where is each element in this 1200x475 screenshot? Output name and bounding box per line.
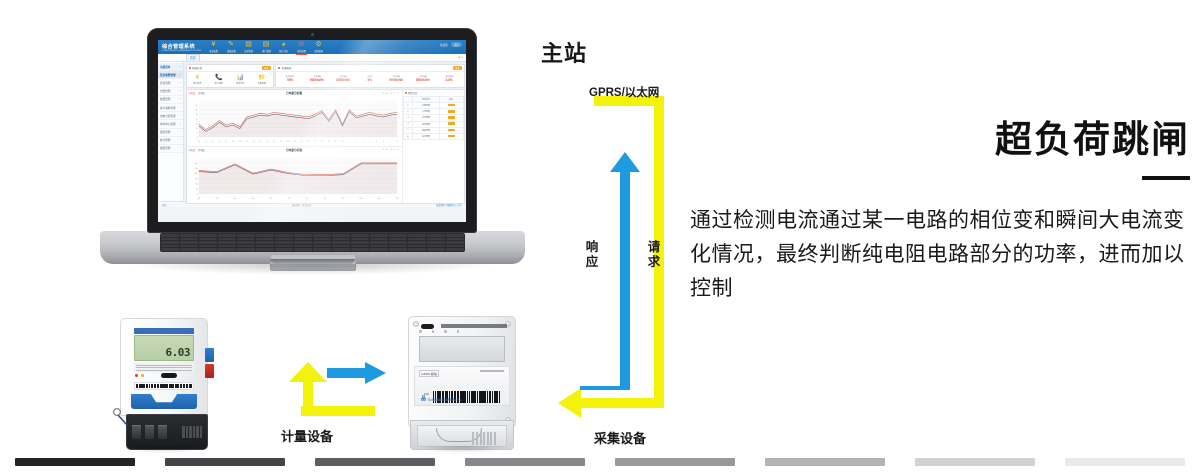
svg-text:29: 29 <box>327 142 329 144</box>
sidebar-item-2[interactable]: 抄表管理« <box>158 79 183 87</box>
keyboard-key <box>180 238 198 241</box>
app-header-right: 欢迎您 退出 <box>440 42 462 47</box>
keyboard-key <box>351 234 369 237</box>
keyboard-key <box>180 241 198 244</box>
meter-terminal-block <box>126 414 208 450</box>
keyboard-key <box>332 245 350 248</box>
keyboard-key <box>427 234 445 237</box>
quick-action-2[interactable]: 📊用电分析 <box>231 75 249 85</box>
keyboard-key <box>370 248 388 251</box>
yuan-icon: ¥ <box>188 75 206 81</box>
status-badge[interactable] <box>448 129 455 132</box>
stat-label: 抄表成功率 <box>278 75 302 78</box>
collector-brand-sub: WILLFAR INFORMATION TECHNOLOGY CO.,LTD <box>428 401 462 402</box>
data-collector-device: GPRS 模块 K19 品 长沙威胜能源产业技术有限公司 WILLFAR INF… <box>408 316 516 450</box>
stats-card-more-button[interactable]: 更多 <box>453 66 461 71</box>
svg-text:16: 16 <box>238 142 240 144</box>
table-cell <box>439 133 463 139</box>
page-title: 超负荷跳闸 <box>690 118 1190 162</box>
keyboard-key <box>218 241 236 244</box>
keyboard-key <box>180 248 198 251</box>
chevron-icon: « <box>180 138 181 142</box>
chart-monthly-title: 月电量分析图 <box>187 148 402 152</box>
svg-text:26: 26 <box>307 142 309 144</box>
quick-actions-card: 快捷方式 更多 ¥营业收费📞客户报修📊用电分析📁抄表数据 <box>186 64 274 88</box>
keyboard-key <box>427 238 445 241</box>
sidebar-item-8[interactable]: 报表管理« <box>158 129 183 137</box>
stat-label: 线损率 <box>358 75 382 78</box>
nav-item-1[interactable]: ✎数据采集 <box>226 41 237 54</box>
sidebar-item-10[interactable]: 线损管理« <box>158 145 183 153</box>
nav-item-label: 日常管理 <box>243 49 253 53</box>
keyboard-key <box>313 234 331 237</box>
svg-text:6月: 6月 <box>287 196 290 200</box>
keyboard-key <box>408 245 426 248</box>
chevron-icon: « <box>180 73 181 77</box>
keyboard-key <box>370 241 388 244</box>
sidebar-item-label: 线损管理 <box>160 146 170 150</box>
keyboard-key <box>313 238 331 241</box>
stat-item-5: 月用电量8500kWh <box>410 75 437 83</box>
stat-value: 8560kWh <box>330 78 357 82</box>
stat-item-6: 当月电费率4.8% <box>436 75 463 83</box>
status-badge[interactable] <box>448 122 455 125</box>
svg-text:3: 3 <box>362 142 363 144</box>
right-text-panel: 超负荷跳闸 通过检测电流通过某一电路的相位变和瞬间大电流变化情况，最终判断纯电阻… <box>690 118 1190 306</box>
keyboard-key <box>332 234 350 237</box>
svg-text:1月: 1月 <box>197 196 200 200</box>
top-cards: 快捷方式 更多 ¥营业收费📞客户报修📊用电分析📁抄表数据 关键指标 更多 <box>186 64 465 88</box>
svg-text:15: 15 <box>195 124 197 126</box>
keyboard-row <box>161 234 464 237</box>
quick-action-label: 用电分析 <box>231 82 249 85</box>
chart-monthly: 月电量 月电流 ⟲ ↻ ⇲ ⊙ ⤢ 月电量分析图 050100150200250… <box>187 147 402 203</box>
bottom-bar <box>465 458 585 466</box>
bottom-bar-segment-6 <box>900 457 1050 466</box>
keyboard-key <box>427 248 445 251</box>
svg-text:0: 0 <box>196 137 197 139</box>
collector-label-line <box>480 370 504 372</box>
keyboard-key <box>389 234 407 237</box>
svg-text:3月: 3月 <box>233 196 236 200</box>
keyboard-key <box>161 241 179 244</box>
stat-item-4: 月用电量9000kWh <box>383 75 410 83</box>
statusbar-right[interactable]: 联系我们 | 帮助中心 | 关于 <box>437 203 462 207</box>
collector-label-plate: GPRS 模块 K19 品 长沙威胜能源产业技术有限公司 WILLFAR INF… <box>414 366 510 406</box>
svg-text:100: 100 <box>194 183 197 185</box>
svg-text:20: 20 <box>266 142 268 144</box>
svg-text:5: 5 <box>196 133 197 135</box>
bottom-gradient-bars <box>0 457 1200 466</box>
keyboard-key <box>446 248 464 251</box>
chevron-icon: « <box>180 114 181 118</box>
keyboard-key <box>313 241 331 244</box>
infographic-canvas: 综合管理系统 COMPREHENSIVE MANAGEMENT SYSTEM ¥… <box>0 0 1200 475</box>
sidebar-item-label: 用电分析管理 <box>160 114 176 118</box>
svg-text:27: 27 <box>314 142 316 144</box>
bottom-bar <box>765 458 885 466</box>
keyboard-row <box>161 241 464 244</box>
keyboard-key <box>389 238 407 241</box>
stats-list: 抄表成功率98%日用电量9060kWh月用电量8560kWh线损率5%月用电量9… <box>276 72 464 84</box>
status-badge[interactable] <box>448 110 455 113</box>
meter-lcd: 6.03 <box>134 335 194 361</box>
breadcrumb: 首页 ▦ ✕ <box>158 54 466 62</box>
collector-module-label: GPRS 模块 <box>419 370 439 377</box>
collector-status-leds <box>419 330 459 333</box>
keyboard-key <box>427 241 445 244</box>
gear-icon: ⚙ <box>313 41 324 49</box>
svg-text:50: 50 <box>195 189 197 191</box>
quick-action-1[interactable]: 📞客户报修 <box>210 75 228 85</box>
nav-item-label: 统计分析 <box>278 49 288 53</box>
sidebar-item-1[interactable]: 营业收费管理« <box>158 71 183 79</box>
keyboard-key <box>408 238 426 241</box>
svg-text:7: 7 <box>389 142 390 144</box>
sidebar-item-label: 收费管理 <box>160 97 170 101</box>
svg-text:28: 28 <box>321 142 323 144</box>
meter-shadow <box>120 446 207 454</box>
laptop-shadow <box>125 264 500 275</box>
bottom-bar-segment-0 <box>0 457 150 466</box>
app-body: 功能菜单«营业收费管理«抄表管理«台账管理«收费管理«客户资料管理«用电分析管理… <box>158 62 466 201</box>
keyboard-key <box>275 238 293 241</box>
svg-text:8月: 8月 <box>323 196 326 200</box>
meter-seal-hook-icon <box>112 408 132 426</box>
keyboard-key <box>199 234 217 237</box>
keyboard-key <box>294 248 312 251</box>
nav-item-5[interactable]: ✉短信管理 <box>296 41 307 54</box>
keyboard-key <box>275 234 293 237</box>
quick-action-3[interactable]: 📁抄表数据 <box>253 75 271 85</box>
sidebar-item-0[interactable]: 功能菜单« <box>158 63 183 71</box>
chart-daily: 日电量 日电流 ⟲ ↻ ⇲ ⊙ ⤢ 日电量分析图 051015202530351… <box>187 90 402 147</box>
keyboard-key <box>180 234 198 237</box>
app-content: 快捷方式 更多 ¥营业收费📞客户报修📊用电分析📁抄表数据 关键指标 更多 <box>184 62 466 201</box>
app-logo-subtext: COMPREHENSIVE MANAGEMENT SYSTEM <box>162 50 201 52</box>
bottom-bar-segment-3 <box>450 457 600 466</box>
phone-icon: 📞 <box>210 75 228 81</box>
stat-value: 4.8% <box>436 78 463 82</box>
barcode-bar <box>191 384 192 388</box>
sidebar-item-label: 客户资料管理 <box>160 106 176 110</box>
sidebar-item-label: 抄表管理 <box>160 81 170 85</box>
keyboard-key <box>237 241 255 244</box>
meter-blue-button[interactable] <box>205 348 214 362</box>
keyboard-key <box>446 238 464 241</box>
svg-text:5: 5 <box>376 142 377 144</box>
svg-text:35: 35 <box>195 106 197 108</box>
chevron-icon: « <box>180 65 181 69</box>
charts-column: 日电量 日电流 ⟲ ↻ ⇲ ⊙ ⤢ 日电量分析图 051015202530351… <box>187 90 402 202</box>
svg-text:300: 300 <box>194 163 197 165</box>
stat-value: 8500kWh <box>410 78 437 82</box>
status-badge[interactable] <box>448 135 455 138</box>
sidebar-item-label: 功能菜单 <box>160 65 170 69</box>
keyboard-row <box>161 245 464 248</box>
keyboard-key <box>218 248 236 251</box>
keyboard-key <box>332 238 350 241</box>
collector-caption: 采集设备 <box>594 428 646 447</box>
keyboard-key <box>199 248 217 251</box>
meter-caption: 计量设备 <box>281 426 333 445</box>
sidebar-item-label: 统计管理 <box>160 138 170 142</box>
stat-item-2: 月用电量8560kWh <box>330 75 357 83</box>
svg-text:10: 10 <box>197 142 199 144</box>
alerts-table: 预警类型状态 1过载预警2欠压预警3过压预警4窃电预警5线损预警6失压预警 <box>403 96 464 140</box>
svg-text:25: 25 <box>195 115 197 117</box>
title-divider <box>1142 176 1190 180</box>
stats-card-header: 关键指标 更多 <box>276 65 464 73</box>
mail-icon: ✉ <box>296 41 307 49</box>
chevron-icon: « <box>180 130 181 134</box>
chart-daily-title: 日电量分析图 <box>187 91 402 95</box>
keyboard-key <box>370 238 388 241</box>
nav-item-label: 短信管理 <box>296 49 306 53</box>
keyboard-key <box>294 234 312 237</box>
keyboard-key <box>408 241 426 244</box>
svg-text:21: 21 <box>273 142 275 144</box>
quick-action-label: 客户报修 <box>210 82 228 85</box>
quick-card-title: 快捷方式 <box>192 66 202 70</box>
sidebar-item-6[interactable]: 用电分析管理« <box>158 112 183 120</box>
keyboard-key <box>446 241 464 244</box>
stat-item-0: 抄表成功率98% <box>277 75 304 83</box>
keyboard-key <box>256 248 274 251</box>
keyboard-key <box>332 248 350 251</box>
svg-text:22: 22 <box>279 142 281 144</box>
bullet-icon <box>278 67 280 69</box>
svg-text:31: 31 <box>341 142 343 144</box>
stat-value: 98% <box>277 78 304 82</box>
quick-actions-list[interactable]: ¥营业收费📞客户报修📊用电分析📁抄表数据 <box>187 72 273 87</box>
app-header: 综合管理系统 COMPREHENSIVE MANAGEMENT SYSTEM ¥… <box>158 40 466 54</box>
stat-value: 5% <box>357 78 384 82</box>
device-flow-arrows <box>283 362 388 418</box>
list-icon: ▤ <box>261 41 272 49</box>
svg-text:9月: 9月 <box>341 196 344 200</box>
app-nav[interactable]: ¥营业收费✎数据采集▤日常管理▤客户管理◕统计分析✉短信管理⚙系统管理 <box>208 41 324 54</box>
quick-action-label: 抄表数据 <box>253 82 271 85</box>
keyboard-key <box>408 248 426 251</box>
meter-red-button[interactable] <box>205 364 214 378</box>
request-label: 请求 <box>647 240 661 270</box>
keyboard-key <box>237 245 255 248</box>
svg-text:19: 19 <box>259 142 261 144</box>
chart-icon: 📊 <box>231 75 249 81</box>
nav-item-0[interactable]: ¥营业收费 <box>208 41 219 54</box>
keyboard-key <box>161 234 179 237</box>
keyboard-key <box>275 241 293 244</box>
keyboard-key <box>161 245 179 248</box>
keyboard-key <box>275 248 293 251</box>
keyboard-row <box>161 238 464 241</box>
keyboard-key <box>370 245 388 248</box>
quick-action-0[interactable]: ¥营业收费 <box>188 75 206 85</box>
svg-text:10月: 10月 <box>359 196 363 200</box>
svg-text:25: 25 <box>300 142 302 144</box>
svg-text:7月: 7月 <box>305 196 308 200</box>
sidebar-item-3[interactable]: 台账管理« <box>158 88 183 96</box>
keyboard-key <box>351 245 369 248</box>
nav-item-2[interactable]: ▤日常管理 <box>243 41 254 54</box>
svg-text:13: 13 <box>218 142 220 144</box>
table-row[interactable]: 6失压预警 <box>403 133 463 139</box>
collector-lcd <box>419 336 505 362</box>
laptop-illustration: 综合管理系统 COMPREHENSIVE MANAGEMENT SYSTEM ¥… <box>100 28 525 313</box>
keyboard-key <box>313 245 331 248</box>
status-badge[interactable] <box>448 104 455 107</box>
status-badge[interactable] <box>448 116 455 119</box>
nav-item-3[interactable]: ▤客户管理 <box>261 41 272 54</box>
sidebar-item-4[interactable]: 收费管理« <box>158 96 183 104</box>
chevron-icon: « <box>180 89 181 93</box>
keyboard-key <box>161 248 179 251</box>
bottom-bar <box>315 458 435 466</box>
svg-text:11: 11 <box>204 142 206 144</box>
stat-label: 日用电量 <box>305 75 329 78</box>
keyboard-key <box>180 245 198 248</box>
stats-card-title: 关键指标 <box>282 66 292 70</box>
svg-text:30: 30 <box>195 110 197 112</box>
keyboard-key <box>389 248 407 251</box>
stat-item-1: 日用电量9060kWh <box>304 75 331 83</box>
laptop-lid: 综合管理系统 COMPREHENSIVE MANAGEMENT SYSTEM ¥… <box>147 28 477 233</box>
folder-icon: 📁 <box>253 75 271 81</box>
keyboard-key <box>199 238 217 241</box>
alerts-table-panel: 预警信息 预警类型状态 1过载预警2欠压预警3过压预警4窃电预警5线损预警6失压… <box>402 90 464 202</box>
meter-model-label <box>134 328 194 334</box>
response-label: 响应 <box>585 240 599 270</box>
svg-text:10: 10 <box>195 128 197 130</box>
svg-text:4月: 4月 <box>251 196 254 200</box>
edit-icon: ✎ <box>226 41 237 49</box>
master-station-label: 主站 <box>541 36 587 68</box>
app-logo: 综合管理系统 COMPREHENSIVE MANAGEMENT SYSTEM <box>162 43 201 52</box>
svg-text:8: 8 <box>396 142 397 144</box>
quick-card-header: 快捷方式 更多 <box>187 65 273 73</box>
nav-item-label: 数据采集 <box>226 49 236 53</box>
bullet-icon <box>405 92 407 94</box>
quick-card-more-button[interactable]: 更多 <box>262 66 270 71</box>
svg-text:15: 15 <box>232 142 234 144</box>
svg-text:4: 4 <box>369 142 370 144</box>
stat-item-3: 线损率5% <box>357 75 384 83</box>
sidebar-item-9[interactable]: 统计管理« <box>158 137 183 145</box>
table-cell: 失压预警 <box>413 133 439 139</box>
keyboard-key <box>332 241 350 244</box>
keyboard-key <box>313 248 331 251</box>
keyboard-key <box>389 245 407 248</box>
svg-text:2月: 2月 <box>215 196 218 200</box>
collector-infrared-port <box>421 324 434 329</box>
bottom-bar <box>615 458 735 466</box>
keyboard-key <box>294 245 312 248</box>
keyboard-key <box>218 234 236 237</box>
svg-text:14: 14 <box>225 142 227 144</box>
logout-button[interactable]: 退出 <box>451 42 462 47</box>
svg-text:12: 12 <box>211 142 213 144</box>
keyboard-key <box>275 245 293 248</box>
chevron-icon: « <box>180 146 181 150</box>
app-user-label: 欢迎您 <box>440 43 448 47</box>
laptop-keyboard <box>160 233 465 252</box>
collector-housing: GPRS 模块 K19 品 长沙威胜能源产业技术有限公司 WILLFAR INF… <box>408 316 516 428</box>
collector-brand: 品 长沙威胜能源产业技术有限公司 WILLFAR INFORMATION TEC… <box>421 397 462 402</box>
nav-item-6[interactable]: ⚙系统管理 <box>313 41 324 54</box>
keyboard-key <box>256 234 274 237</box>
keyboard-key <box>256 241 274 244</box>
keyboard-key <box>199 245 217 248</box>
bottom-bar-segment-2 <box>300 457 450 466</box>
nav-item-label: 系统管理 <box>313 49 323 53</box>
keyboard-key <box>351 241 369 244</box>
svg-text:24: 24 <box>293 142 295 144</box>
collector-terminal-inner <box>417 425 507 447</box>
meter-housing: 6.03 <box>120 318 208 416</box>
stat-label: 月用电量 <box>384 75 408 78</box>
breadcrumb-tools[interactable]: ▦ ✕ <box>458 56 463 59</box>
statusbar-left: 就绪 <box>162 203 166 207</box>
chevron-icon: « <box>180 97 181 101</box>
bullet-icon <box>189 67 191 69</box>
nav-item-4[interactable]: ◕统计分析 <box>278 41 289 54</box>
keyboard-key <box>446 234 464 237</box>
collector-terminal-pins <box>472 432 496 445</box>
keyboard-row <box>161 248 464 251</box>
keyboard-key <box>294 238 312 241</box>
svg-text:2: 2 <box>355 142 356 144</box>
stats-card: 关键指标 更多 抄表成功率98%日用电量9060kWh月用电量8560kWh线损… <box>275 64 465 88</box>
sidebar-item-5[interactable]: 客户资料管理« <box>158 104 183 112</box>
collector-brand-text: 长沙威胜能源产业技术有限公司 WILLFAR INFORMATION TECHN… <box>428 397 462 402</box>
chevron-icon: « <box>180 122 181 126</box>
bottom-bar-segment-4 <box>600 457 750 466</box>
svg-text:12月: 12月 <box>395 196 399 200</box>
page-description: 通过检测电流通过某一电路的相位变和瞬间大电流变化情况，最终判断纯电阻电路部分的功… <box>690 204 1190 306</box>
table-cell: 6 <box>403 133 413 139</box>
meter-blue-panel <box>131 394 197 409</box>
stat-label: 月用电量 <box>331 75 355 78</box>
sidebar-item-label: 台账管理 <box>160 89 170 93</box>
svg-text:30: 30 <box>334 142 336 144</box>
app-sidebar[interactable]: 功能菜单«营业收费管理«抄表管理«台账管理«收费管理«客户资料管理«用电分析管理… <box>158 62 184 201</box>
stat-value: 9000kWh <box>383 78 410 82</box>
electricity-meter-device: 6.03 <box>112 318 216 450</box>
meter-lcd-value: 6.03 <box>166 346 191 359</box>
stat-label: 当月电费率 <box>437 75 461 78</box>
svg-text:250: 250 <box>194 168 197 170</box>
alerts-table-body[interactable]: 1过载预警2欠压预警3过压预警4窃电预警5线损预警6失压预警 <box>403 102 463 139</box>
keyboard-key <box>237 238 255 241</box>
tab-home[interactable]: 首页 <box>186 54 200 61</box>
bottom-bar <box>165 458 285 466</box>
bottom-bar <box>1065 458 1185 466</box>
keyboard-key <box>408 234 426 237</box>
nav-item-label: 营业收费 <box>208 49 218 53</box>
keyboard-key <box>427 245 445 248</box>
calendar-icon: ▤ <box>243 41 254 49</box>
charts-panel: 日电量 日电流 ⟲ ↻ ⇲ ⊙ ⤢ 日电量分析图 051015202530351… <box>186 89 465 203</box>
keyboard-key <box>237 234 255 237</box>
keyboard-key <box>256 238 274 241</box>
svg-text:0: 0 <box>196 194 197 196</box>
meter-infrared-port <box>161 373 177 378</box>
svg-text:6: 6 <box>383 142 384 144</box>
nav-item-label: 客户管理 <box>261 49 271 53</box>
sidebar-item-7[interactable]: 呼叫中心管理« <box>158 120 183 128</box>
bottom-bar <box>15 458 135 466</box>
